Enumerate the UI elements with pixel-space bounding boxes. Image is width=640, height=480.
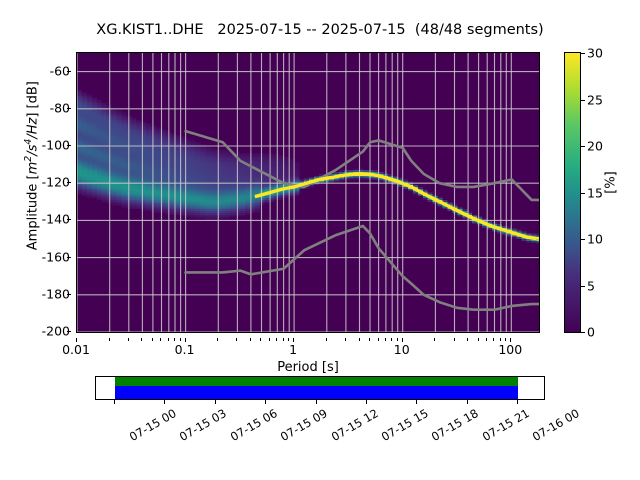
timeline-tick-label: 07-15 18 — [429, 406, 481, 444]
x-minor-tick-mark — [359, 338, 360, 341]
y-tick-mark — [67, 182, 71, 183]
x-tick-mark — [76, 338, 77, 342]
y-tick-mark — [67, 257, 71, 258]
x-tick-label: 10 — [372, 342, 432, 357]
timeline-tick-label: 07-15 06 — [228, 406, 280, 444]
colorbar-tick-mark — [581, 53, 585, 54]
timeline-tick-mark — [215, 400, 216, 404]
y-axis-ticks: -60-80-100-120-140-160-180-200 — [10, 52, 70, 333]
colorbar-tick-mark — [581, 332, 585, 333]
timeline-tick-label: 07-15 09 — [278, 406, 330, 444]
x-minor-tick-mark — [493, 338, 494, 341]
x-minor-tick-mark — [152, 338, 153, 341]
timeline-tick-label: 07-15 15 — [379, 406, 431, 444]
colorbar-tick-mark — [581, 146, 585, 147]
colorbar-tick-label: 5 — [587, 278, 595, 293]
x-tick-mark — [185, 338, 186, 342]
y-tick-label: -80 — [18, 100, 70, 115]
x-tick-label: 0.01 — [46, 342, 106, 357]
x-minor-tick-mark — [128, 338, 129, 341]
x-minor-tick-mark — [345, 338, 346, 341]
ppsd-plot-area[interactable] — [76, 52, 540, 333]
x-tick-label: 0.1 — [155, 342, 215, 357]
x-tick-mark — [293, 338, 294, 342]
timeline-tick-label: 07-15 12 — [328, 406, 380, 444]
x-minor-tick-mark — [283, 338, 284, 341]
x-minor-tick-mark — [385, 338, 386, 341]
x-minor-tick-mark — [397, 338, 398, 341]
x-minor-tick-mark — [369, 338, 370, 341]
x-minor-tick-mark — [174, 338, 175, 341]
timeline-tick-mark — [316, 400, 317, 404]
y-tick-label: -100 — [18, 138, 70, 153]
timeline-ticks: 07-15 0007-15 0307-15 0607-15 0907-15 12… — [95, 400, 545, 412]
x-tick-mark — [402, 338, 403, 342]
coverage-timeline[interactable] — [95, 376, 545, 400]
timeline-tick-label: 07-15 21 — [480, 406, 532, 444]
x-minor-tick-mark — [505, 338, 506, 341]
colorbar-tick-mark — [581, 286, 585, 287]
x-minor-tick-mark — [454, 338, 455, 341]
colorbar-tick-label: 20 — [587, 139, 603, 154]
x-minor-tick-mark — [180, 338, 181, 341]
x-minor-tick-mark — [391, 338, 392, 341]
x-minor-tick-mark — [276, 338, 277, 341]
y-tick-mark — [67, 331, 71, 332]
colorbar-tick-mark — [581, 239, 585, 240]
x-tick-label: 100 — [480, 342, 540, 357]
density-heatmap — [77, 90, 539, 244]
y-tick-mark — [67, 71, 71, 72]
y-tick-mark — [67, 108, 71, 109]
x-minor-tick-mark — [326, 338, 327, 341]
y-tick-label: -120 — [18, 175, 70, 190]
y-tick-label: -180 — [18, 286, 70, 301]
colorbar-label: [%] — [604, 138, 619, 228]
x-minor-tick-mark — [434, 338, 435, 341]
timeline-tick-mark — [265, 400, 266, 404]
x-tick-label: 1 — [263, 342, 323, 357]
x-minor-tick-mark — [141, 338, 142, 341]
y-tick-label: -60 — [18, 63, 70, 78]
colorbar-tick-mark — [581, 100, 585, 101]
timeline-psd-bar — [115, 386, 518, 399]
x-minor-tick-mark — [236, 338, 237, 341]
x-minor-tick-mark — [288, 338, 289, 341]
x-tick-mark — [510, 338, 511, 342]
x-minor-tick-mark — [160, 338, 161, 341]
x-minor-tick-mark — [378, 338, 379, 341]
x-minor-tick-mark — [168, 338, 169, 341]
y-tick-label: -200 — [18, 324, 70, 339]
page-title: XG.KIST1..DHE 2025-07-15 -- 2025-07-15 (… — [0, 22, 640, 38]
x-minor-tick-mark — [260, 338, 261, 341]
x-minor-tick-mark — [500, 338, 501, 341]
x-minor-tick-mark — [109, 338, 110, 341]
colorbar-tick-label: 10 — [587, 232, 603, 247]
x-minor-tick-mark — [217, 338, 218, 341]
timeline-tick-mark — [164, 400, 165, 404]
timeline-data-bar — [115, 377, 518, 386]
x-axis-ticks: 0.010.1110100 — [76, 338, 540, 356]
timeline-tick-mark — [467, 400, 468, 404]
colorbar[interactable] — [564, 52, 581, 333]
y-tick-label: -140 — [18, 212, 70, 227]
x-minor-tick-mark — [269, 338, 270, 341]
timeline-tick-mark — [114, 400, 115, 404]
y-tick-mark — [67, 219, 71, 220]
timeline-tick-mark — [366, 400, 367, 404]
timeline-tick-label: 07-15 03 — [177, 406, 229, 444]
x-minor-tick-mark — [467, 338, 468, 341]
timeline-tick-label: 07-16 00 — [530, 406, 582, 444]
y-tick-mark — [67, 145, 71, 146]
ppsd-figure: XG.KIST1..DHE 2025-07-15 -- 2025-07-15 (… — [0, 0, 640, 480]
x-minor-tick-mark — [478, 338, 479, 341]
timeline-tick-label: 07-15 00 — [127, 406, 179, 444]
x-minor-tick-mark — [250, 338, 251, 341]
y-tick-label: -160 — [18, 249, 70, 264]
colorbar-tick-label: 0 — [587, 325, 595, 340]
colorbar-tick-label: 15 — [587, 185, 603, 200]
colorbar-tick-label: 25 — [587, 92, 603, 107]
x-minor-tick-mark — [486, 338, 487, 341]
timeline-tick-mark — [416, 400, 417, 404]
x-axis-label: Period [s] — [76, 360, 540, 375]
y-tick-mark — [67, 294, 71, 295]
colorbar-tick-mark — [581, 193, 585, 194]
timeline-tick-mark — [517, 400, 518, 404]
colorbar-tick-label: 30 — [587, 46, 603, 61]
